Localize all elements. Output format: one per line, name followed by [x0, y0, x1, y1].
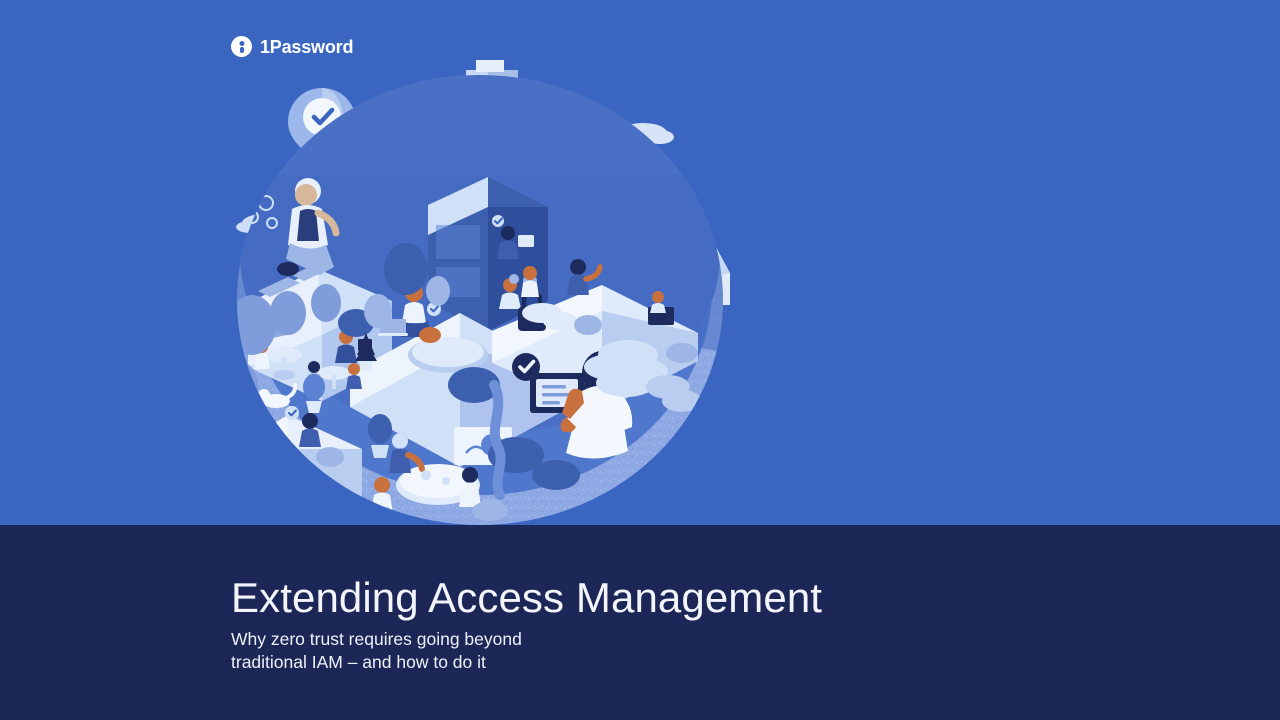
brand-name: 1Password [260, 38, 353, 56]
hero-panel: 1Password [0, 0, 1280, 525]
person-taking-photo [252, 436, 283, 473]
access-everywhere-island-illustration [230, 55, 730, 525]
footer-panel: Extending Access Management Why zero tru… [0, 525, 1280, 720]
page-subtitle: Why zero trust requires going beyond tra… [231, 628, 522, 674]
1password-keyhole-icon [231, 36, 252, 57]
page-title: Extending Access Management [231, 576, 822, 621]
slide-root: 1Password Extending Access Management Wh… [0, 0, 1280, 720]
keyhole-dot [239, 41, 244, 46]
river-path [494, 385, 501, 495]
brand-logo[interactable]: 1Password [231, 36, 353, 57]
keyhole-bar [240, 47, 244, 53]
